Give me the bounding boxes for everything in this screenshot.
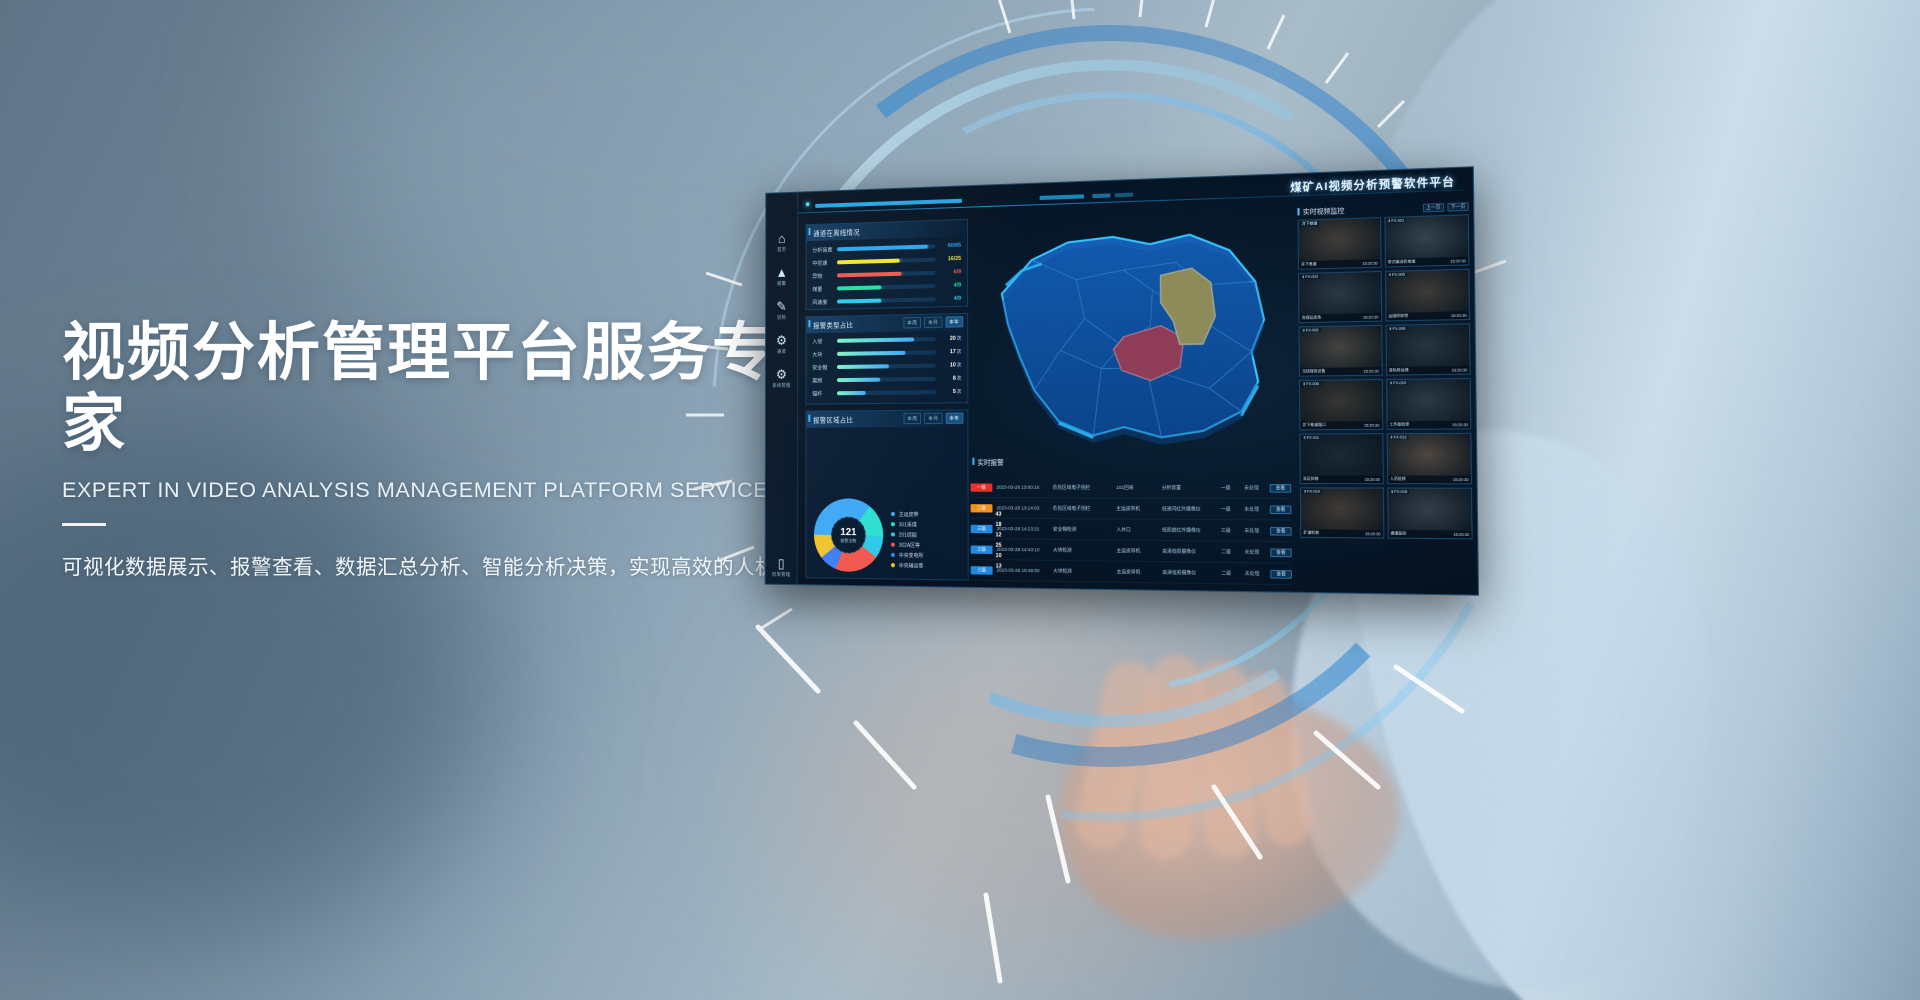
- video-cell[interactable]: Ⅱ FX-005运煤停转带15:20:30: [1384, 269, 1470, 322]
- row-value: 4/9: [936, 282, 962, 289]
- video-cell[interactable]: Ⅱ FX-011采区斜巷15:20:30: [1299, 433, 1383, 484]
- hero-banner: 视频分析管理平台服务专家 EXPERT IN VIDEO ANALYSIS MA…: [0, 0, 1920, 1000]
- status-dot-icon: [806, 202, 810, 206]
- video-caption-text: 通道监控: [1390, 531, 1406, 537]
- row-label: 入侵: [812, 336, 837, 344]
- cell-time: 2023-03-28 13:14:03: [996, 505, 1052, 510]
- row-label: 安全帽: [812, 362, 837, 370]
- video-timestamp: 15:20:30: [1365, 531, 1380, 535]
- realtime-alarm-title: 实时报警: [972, 457, 1003, 467]
- channel-status-panel: 通道在离线情况 分析装置60/65中控速16/25异物6/9煤量4/9风速度4/…: [806, 219, 969, 310]
- row-unit: 次: [956, 335, 962, 340]
- row-value: 10次: [936, 362, 962, 368]
- table-row[interactable]: 二级2023-03-28 13:14:03危险区域电子围栏主运皮带机低速闪红外摄…: [971, 498, 1292, 521]
- video-caption: 当班煤炭设备15:20:30: [1300, 367, 1381, 376]
- alarm-type-row: 锚杆5次: [806, 385, 967, 400]
- dashboard-screen: 煤矿AI视频分析预警软件平台 ⌂首页▲报警✎巡检⚙通道⚙系统管理 ▯ 权限管理 …: [765, 166, 1479, 596]
- sidebar-item-5[interactable]: ⚙系统管理: [766, 367, 797, 389]
- region-map[interactable]: [968, 206, 1300, 453]
- video-timestamp: 15:20:30: [1452, 422, 1468, 426]
- clipboard-icon: ✎: [766, 298, 797, 314]
- row-unit: 次: [956, 388, 962, 393]
- cell-device: 分析装置: [1162, 484, 1221, 490]
- legend-color-dot: [891, 553, 895, 557]
- progress-track: [837, 376, 936, 381]
- divider: [62, 523, 106, 526]
- cell-location: 主运皮带机: [1117, 568, 1163, 575]
- hero-copy: 视频分析管理平台服务专家 EXPERT IN VIDEO ANALYSIS MA…: [62, 318, 822, 580]
- video-timestamp: 15:20:30: [1451, 313, 1467, 318]
- video-channel-tag: Ⅱ FX-012: [1388, 435, 1409, 439]
- sidebar-item-permissions[interactable]: ▯ 权限管理: [766, 555, 797, 578]
- video-caption: 采区斜巷15:20:30: [1301, 475, 1382, 483]
- cell-location: 主运皮带机: [1116, 547, 1162, 554]
- channel-status-row: 风速度4/9: [807, 291, 968, 308]
- row-unit: 次: [956, 375, 962, 380]
- progress-fill: [837, 364, 889, 369]
- row-label: 煤量: [812, 284, 837, 293]
- video-monitor-panel: 实时视频监控 上一页 下一页 井下巷道井下巷道15:20:30Ⅱ FX-001带…: [1297, 200, 1473, 588]
- video-caption-text: 当班煤炭设备: [1302, 369, 1325, 375]
- tab-本月[interactable]: 本月: [924, 317, 942, 329]
- status-badge: 一级: [970, 483, 992, 491]
- cell-type: 危险区域电子围栏: [1053, 505, 1116, 512]
- video-caption-text: 带式输送机巷道: [1388, 259, 1416, 265]
- video-cell[interactable]: Ⅱ FX-005当班煤炭设备15:20:30: [1298, 325, 1382, 377]
- video-caption: 井下巷道路口15:20:30: [1300, 421, 1381, 429]
- row-unit: 次: [956, 348, 962, 353]
- page-subtitle: EXPERT IN VIDEO ANALYSIS MANAGEMENT PLAT…: [62, 478, 822, 503]
- cell-device: 高清低照摄像仪: [1162, 569, 1221, 576]
- status-badge: 三级: [971, 545, 993, 554]
- period-tabs[interactable]: 本周本月本年: [903, 316, 963, 328]
- video-caption-text: 工作面检修: [1389, 422, 1409, 428]
- video-channel-tag: Ⅱ FX-003: [1300, 275, 1320, 280]
- row-label: 离岗: [812, 376, 837, 384]
- progress-track: [837, 350, 936, 356]
- sidebar-item-label: 首页: [766, 246, 797, 253]
- cell-time: 2023-03-28 15:46:00: [997, 567, 1053, 573]
- cell-device: 低照度红外摄像仪: [1162, 527, 1221, 534]
- progress-track: [837, 284, 936, 290]
- alarm-total-label: 报警次数: [840, 538, 856, 544]
- progress-track: [837, 297, 936, 303]
- video-caption: 洗煤站选场15:20:30: [1299, 313, 1380, 322]
- video-caption: 运煤停转带15:20:30: [1386, 311, 1469, 320]
- sidebar-item-label: 报警: [766, 280, 797, 287]
- row-label: 中控速: [812, 258, 837, 267]
- row-value: 60/65: [936, 242, 962, 249]
- cell-device: 低速闪红外摄像仪: [1162, 506, 1221, 513]
- cell-time: 2023-03-28 14:43:10: [997, 547, 1053, 553]
- video-panel-title: 实时视频监控: [1297, 205, 1344, 216]
- row-value: 17次: [936, 348, 962, 355]
- alarm-icon: ▲: [766, 264, 797, 280]
- row-value: 16/25: [936, 255, 962, 262]
- status-badge: 三级: [971, 524, 993, 532]
- cell-status: 未处理: [1244, 484, 1270, 490]
- sidebar-item-2[interactable]: ▲报警: [766, 264, 797, 287]
- video-caption-text: 井下巷道: [1301, 262, 1317, 268]
- view-button[interactable]: 查看: [1270, 569, 1292, 578]
- video-cell[interactable]: Ⅱ FX-010工作面检修15:20:30: [1386, 378, 1472, 430]
- sidebar-item-label: 巡检: [766, 314, 797, 321]
- row-value: 6/9: [936, 269, 962, 276]
- video-caption-text: 洗煤站选场: [1302, 315, 1321, 321]
- progress-track: [837, 363, 936, 368]
- view-button[interactable]: 查看: [1270, 548, 1292, 557]
- progress-track: [837, 257, 936, 264]
- dashboard-title: 煤矿AI视频分析预警软件平台: [1290, 173, 1455, 195]
- row-value: 5次: [936, 388, 962, 394]
- progress-fill: [837, 271, 902, 277]
- cell-location: 101回采: [1116, 484, 1162, 490]
- header-accent-bar: [1040, 194, 1084, 200]
- video-pagination[interactable]: 上一页 下一页: [1422, 202, 1468, 212]
- video-caption-text: 矿道机巷: [1303, 530, 1319, 536]
- video-caption: 工作面检修15:20:30: [1387, 421, 1470, 429]
- video-channel-tag: Ⅱ FX-001: [1386, 218, 1406, 223]
- video-caption-text: 井下巷道路口: [1303, 423, 1326, 429]
- video-cell[interactable]: 井下巷道井下巷道15:20:30: [1298, 217, 1382, 270]
- donut-center: 121 报警次数: [831, 517, 866, 554]
- progress-fill: [837, 337, 914, 342]
- video-caption: 矿道机巷15:20:30: [1301, 529, 1383, 537]
- row-value: 20次: [936, 335, 962, 342]
- row-label: 大块: [812, 349, 837, 357]
- row-value: 4/9: [936, 295, 962, 302]
- header-accent-bar: [815, 199, 962, 208]
- cell-grade: 一级: [1221, 506, 1244, 513]
- cell-status: 未处理: [1244, 506, 1270, 513]
- cell-type: 大块检测: [1053, 568, 1117, 575]
- sidebar-item-label: 系统管理: [766, 383, 797, 389]
- cell-status: 未处理: [1245, 570, 1271, 577]
- page-description: 可视化数据展示、报警查看、数据汇总分析、智能分析决策，实现高效的人机交互: [62, 550, 822, 580]
- sidebar-nav: ⌂首页▲报警✎巡检⚙通道⚙系统管理 ▯ 权限管理: [766, 193, 799, 585]
- row-label: 锚杆: [812, 389, 837, 397]
- table-row[interactable]: 一级2023-03-28 13:00:16危险区域电子围栏101回采分析装置一级…: [970, 477, 1291, 499]
- sidebar-item-label: 通道: [766, 349, 797, 356]
- video-channel-tag: Ⅱ FX-006: [1387, 327, 1408, 332]
- panel-title: 报警类型占比本周本月本年: [807, 314, 968, 333]
- table-row[interactable]: 三级2023-03-28 15:46:00大块检测主运皮带机高清低照摄像仪二级未…: [971, 560, 1292, 585]
- cell-status: 未处理: [1244, 527, 1270, 534]
- video-caption: 通道监控15:20:30: [1388, 530, 1471, 538]
- video-cell[interactable]: Ⅱ FX-012人员检修15:20:30: [1386, 433, 1472, 485]
- sidebar-item-4[interactable]: ⚙通道: [766, 332, 797, 355]
- sidebar-item-label: 权限管理: [766, 572, 797, 578]
- video-timestamp: 15:20:30: [1452, 368, 1468, 373]
- video-channel-tag: Ⅱ FX-010: [1388, 381, 1409, 386]
- header-accent-bar: [1115, 193, 1134, 198]
- progress-track: [837, 337, 936, 343]
- video-cell[interactable]: Ⅱ FX-006准轨转运巷15:20:30: [1385, 323, 1471, 375]
- video-timestamp: 15:20:30: [1450, 258, 1466, 263]
- home-icon: ⌂: [766, 231, 797, 247]
- map-svg: [968, 206, 1300, 453]
- video-timestamp: 15:20:30: [1453, 477, 1469, 481]
- video-caption-text: 人员检修: [1390, 477, 1406, 482]
- progress-fill: [837, 285, 881, 290]
- video-timestamp: 15:20:30: [1453, 532, 1469, 537]
- view-button[interactable]: 查看: [1270, 505, 1292, 514]
- next-page-button[interactable]: 下一页: [1447, 202, 1469, 211]
- cell-device: 高清低照摄像仪: [1162, 548, 1221, 555]
- alarm-region-donut-chart: 121 报警次数: [814, 498, 883, 572]
- cell-time: 2023-03-28 14:13:21: [997, 526, 1053, 532]
- realtime-alarm-table: 一级2023-03-28 13:00:16危险区域电子围栏101回采分析装置一级…: [970, 477, 1292, 585]
- video-cell[interactable]: Ⅱ FX-016通道监控15:20:30: [1387, 487, 1473, 539]
- header-accent-bar: [1092, 193, 1110, 198]
- row-label: 异物: [812, 271, 837, 280]
- progress-fill: [837, 298, 881, 303]
- video-caption-text: 运煤停转带: [1388, 314, 1408, 320]
- video-channel-tag: Ⅱ FX-005: [1387, 272, 1408, 277]
- video-channel-tag: Ⅱ FX-005: [1301, 328, 1321, 333]
- video-caption: 人员检修15:20:30: [1388, 476, 1471, 484]
- tab-本周[interactable]: 本周: [903, 413, 921, 424]
- cell-status: 未处理: [1244, 549, 1270, 556]
- video-timestamp: 15:20:30: [1364, 423, 1379, 427]
- video-caption: 带式输送机巷道15:20:30: [1385, 257, 1468, 267]
- status-badge: 三级: [971, 566, 993, 575]
- video-caption: 井下巷道15:20:30: [1299, 259, 1380, 269]
- progress-fill: [837, 390, 865, 394]
- video-caption-text: 准轨转运巷: [1389, 368, 1409, 374]
- tab-本年[interactable]: 本年: [945, 412, 963, 423]
- sliders-icon: ⚙: [766, 332, 797, 348]
- progress-fill: [837, 377, 880, 382]
- legend-color-dot: [891, 532, 895, 536]
- tab-本月[interactable]: 本月: [924, 413, 942, 424]
- cell-grade: 二级: [1221, 570, 1244, 577]
- video-caption-text: 采区斜巷: [1303, 477, 1319, 482]
- alarm-type-panel: 报警类型占比本周本月本年 入侵20次大块17次安全帽10次离岗8次锚杆5次: [806, 313, 969, 405]
- video-cell[interactable]: Ⅱ FX-008井下巷道路口15:20:30: [1299, 379, 1383, 430]
- cell-grade: 三级: [1221, 527, 1244, 534]
- row-value: 8次: [936, 375, 962, 381]
- video-cell[interactable]: Ⅱ FX-001带式输送机巷道15:20:30: [1384, 214, 1470, 267]
- tab-本年[interactable]: 本年: [945, 316, 963, 328]
- dashboard-screenshot: 煤矿AI视频分析预警软件平台 ⌂首页▲报警✎巡检⚙通道⚙系统管理 ▯ 权限管理 …: [765, 192, 1457, 584]
- row-unit: 次: [956, 362, 962, 367]
- video-channel-tag: Ⅱ FX-016: [1389, 490, 1410, 494]
- alarm-total-value: 121: [840, 526, 856, 537]
- progress-fill: [837, 350, 906, 355]
- view-button[interactable]: 查看: [1270, 483, 1292, 492]
- video-timestamp: 15:20:30: [1362, 261, 1377, 266]
- video-channel-tag: Ⅱ FX-008: [1301, 382, 1321, 387]
- video-timestamp: 15:20:30: [1365, 477, 1380, 481]
- tab-本周[interactable]: 本周: [903, 317, 921, 329]
- video-channel-tag: Ⅱ FX-014: [1302, 489, 1322, 493]
- view-button[interactable]: 查看: [1270, 526, 1292, 535]
- table-row[interactable]: 三级2023-03-28 14:13:21安全帽检测入井口低照度红外摄像仪三级未…: [971, 519, 1292, 543]
- cell-type: 危险区域电子围栏: [1053, 484, 1116, 490]
- period-tabs[interactable]: 本周本月本年: [903, 412, 963, 424]
- prev-page-button[interactable]: 上一页: [1422, 203, 1443, 212]
- video-timestamp: 15:20:30: [1363, 315, 1378, 320]
- cell-time: 2023-03-28 13:00:16: [996, 485, 1052, 490]
- cell-type: 安全帽检测: [1053, 526, 1116, 533]
- row-label: 分析装置: [812, 245, 837, 254]
- progress-track: [837, 390, 936, 395]
- panel-title: 报警区域占比本周本月本年: [806, 410, 967, 427]
- lock-icon: ▯: [766, 555, 797, 571]
- progress-fill: [837, 244, 928, 251]
- legend-color-dot: [891, 512, 895, 516]
- progress-fill: [837, 258, 900, 264]
- cell-grade: 一级: [1221, 484, 1244, 490]
- sidebar-item-1[interactable]: ⌂首页: [766, 231, 797, 254]
- legend-color-dot: [891, 563, 895, 567]
- video-caption: 准轨转运巷15:20:30: [1387, 366, 1470, 375]
- video-channel-tag: Ⅱ FX-011: [1302, 436, 1322, 440]
- progress-track: [837, 270, 936, 277]
- progress-track: [837, 244, 936, 251]
- cell-location: 入井口: [1116, 526, 1162, 533]
- video-timestamp: 15:20:30: [1363, 369, 1378, 374]
- video-cell[interactable]: Ⅱ FX-014矿道机巷15:20:30: [1300, 487, 1384, 538]
- video-channel-tag: 井下巷道: [1300, 221, 1320, 227]
- video-cell[interactable]: Ⅱ FX-003洗煤站选场15:20:30: [1298, 271, 1382, 323]
- legend-color-dot: [891, 522, 895, 526]
- page-title: 视频分析管理平台服务专家: [62, 318, 822, 459]
- gear-icon: ⚙: [766, 367, 797, 382]
- cell-location: 主运皮带机: [1116, 505, 1162, 512]
- video-grid: 井下巷道井下巷道15:20:30Ⅱ FX-001带式输送机巷道15:20:30Ⅱ…: [1298, 214, 1473, 539]
- sidebar-item-3[interactable]: ✎巡检: [766, 298, 797, 321]
- cell-grade: 二级: [1221, 548, 1244, 555]
- cell-type: 大块检测: [1053, 547, 1117, 554]
- row-label: 风速度: [812, 297, 837, 306]
- legend-color-dot: [891, 543, 895, 547]
- status-badge: 二级: [971, 504, 993, 512]
- alarm-region-panel: 报警区域占比本周本月本年 121 报警次数 主运皮带43301采煤18201综掘…: [805, 409, 968, 580]
